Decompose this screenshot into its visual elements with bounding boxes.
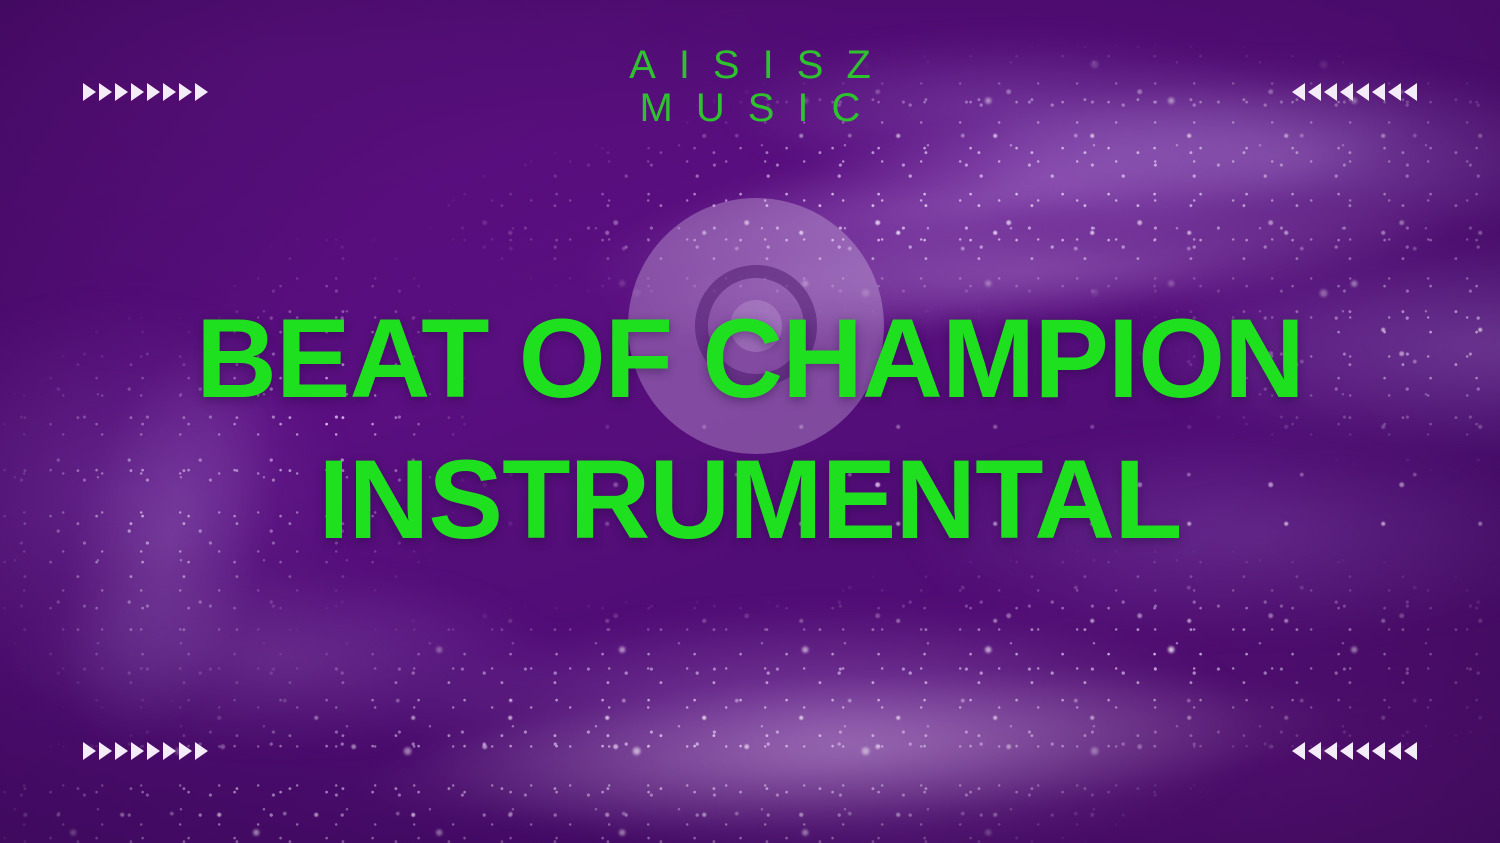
arrow-left-icon (1324, 742, 1337, 760)
arrow-left-icon (1340, 742, 1353, 760)
video-thumbnail: AISISZ MUSIC BEAT OF CHAMPION INSTRUMENT… (0, 0, 1500, 843)
arrow-right-icon (83, 742, 96, 760)
arrow-right-icon (99, 742, 112, 760)
track-title: BEAT OF CHAMPION INSTRUMENTAL (0, 288, 1500, 570)
corner-arrows-bottom-left (83, 742, 208, 760)
brand-name-line-2: MUSIC (0, 87, 1500, 130)
track-title-line-1: BEAT OF CHAMPION (0, 288, 1500, 429)
corner-arrows-bottom-right (1292, 742, 1417, 760)
track-title-line-2: INSTRUMENTAL (0, 429, 1500, 570)
arrow-right-icon (115, 742, 128, 760)
brand-lockup: AISISZ MUSIC (0, 44, 1500, 130)
arrow-left-icon (1356, 742, 1369, 760)
arrow-left-icon (1292, 742, 1305, 760)
arrow-right-icon (163, 742, 176, 760)
arrow-right-icon (179, 742, 192, 760)
arrow-right-icon (147, 742, 160, 760)
arrow-left-icon (1404, 742, 1417, 760)
arrow-right-icon (195, 742, 208, 760)
arrow-right-icon (131, 742, 144, 760)
brand-name-line-1: AISISZ (0, 44, 1500, 87)
arrow-left-icon (1388, 742, 1401, 760)
arrow-left-icon (1308, 742, 1321, 760)
arrow-left-icon (1372, 742, 1385, 760)
